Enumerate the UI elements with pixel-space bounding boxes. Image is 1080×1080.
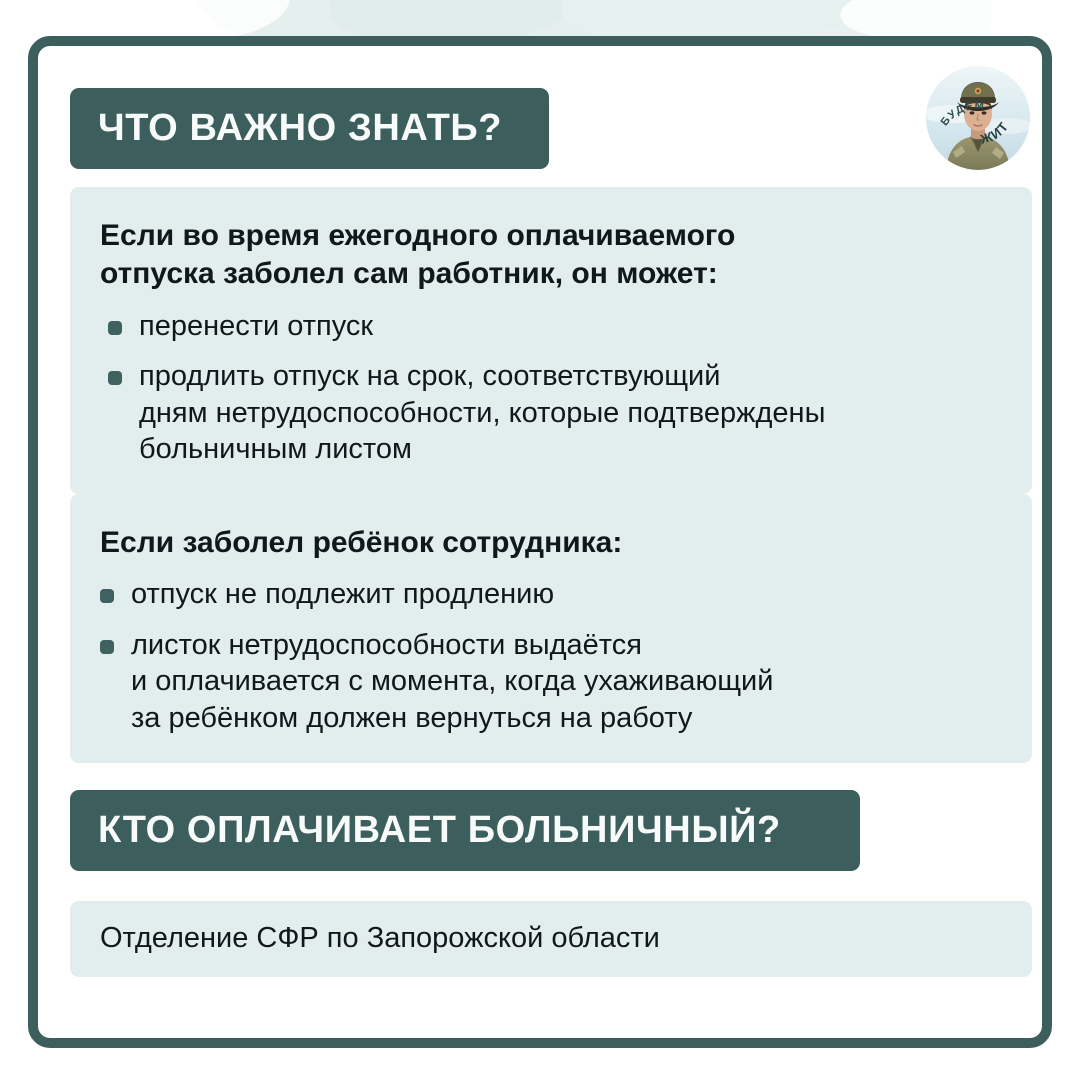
list-item: продлить отпуск на срок, соответствующий… bbox=[100, 358, 1002, 468]
panel-child-ill-heading: Если заболел ребёнок сотрудника: bbox=[100, 524, 1002, 562]
bullet-square-icon bbox=[100, 589, 114, 603]
list-item-text: листок нетрудоспособности выдаётся и опл… bbox=[131, 627, 1002, 737]
banner-who-pays: КТО ОПЛАЧИВАЕТ БОЛЬНИЧНЫЙ? bbox=[70, 790, 860, 871]
bullet-square-icon bbox=[108, 321, 122, 335]
banner-what-to-know-label: ЧТО ВАЖНО ЗНАТЬ? bbox=[98, 107, 502, 150]
panel-issuing-office: Отделение СФР по Запорожской области bbox=[70, 901, 1032, 977]
bullet-square-icon bbox=[108, 371, 122, 385]
panel-employee-ill-heading: Если во время ежегодного оплачиваемого о… bbox=[100, 217, 1002, 294]
panel-child-ill: Если заболел ребёнок сотрудника: отпуск … bbox=[70, 494, 1032, 763]
poster-card: ЧТО ВАЖНО ЗНАТЬ? Если во время ежегодног… bbox=[28, 36, 1052, 1048]
panel-employee-ill: Если во время ежегодного оплачиваемого о… bbox=[70, 187, 1032, 494]
list-item-text: продлить отпуск на срок, соответствующий… bbox=[139, 358, 1002, 468]
list-item: перенести отпуск bbox=[100, 308, 1002, 345]
bullet-square-icon bbox=[100, 640, 114, 654]
backdrop-shape-d bbox=[120, 0, 290, 40]
budem-zhit-logo: БУДЕМ ЖИТЬ bbox=[926, 66, 1030, 170]
list-item-text: перенести отпуск bbox=[139, 308, 1002, 345]
issuing-office-text: Отделение СФР по Запорожской области bbox=[100, 920, 660, 958]
banner-who-pays-label: КТО ОПЛАЧИВАЕТ БОЛЬНИЧНЫЙ? bbox=[98, 809, 781, 852]
list-item: отпуск не подлежит продлению bbox=[100, 576, 1002, 613]
list-item-text: отпуск не подлежит продлению bbox=[131, 576, 1002, 613]
banner-what-to-know: ЧТО ВАЖНО ЗНАТЬ? bbox=[70, 88, 549, 169]
panel-employee-ill-list: перенести отпуск продлить отпуск на срок… bbox=[100, 308, 1002, 468]
poster-page: ЧТО ВАЖНО ЗНАТЬ? Если во время ежегодног… bbox=[0, 0, 1080, 1080]
list-item: листок нетрудоспособности выдаётся и опл… bbox=[100, 627, 1002, 737]
badge-artwork-icon: БУДЕМ ЖИТЬ bbox=[926, 66, 1030, 170]
panel-child-ill-list: отпуск не подлежит продлению листок нетр… bbox=[100, 576, 1002, 736]
